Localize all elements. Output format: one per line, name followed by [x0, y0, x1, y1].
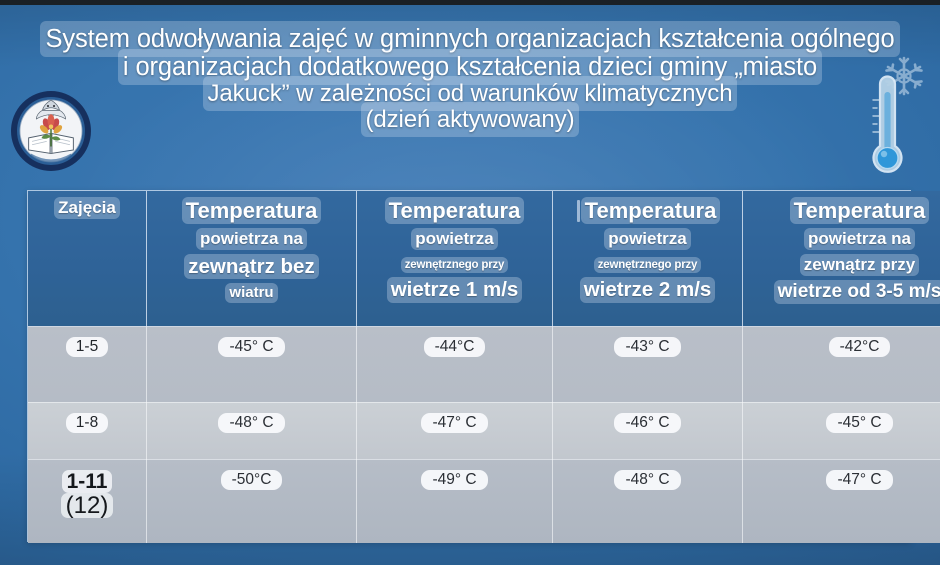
header-wind0-line-3: zewnątrz bez: [186, 256, 316, 278]
row-2-value-2: -46° C: [614, 413, 680, 433]
row-1-grade: 1-5: [66, 337, 108, 357]
row-3-value-3: -47° C: [826, 470, 892, 490]
row-2-wind-3-5-cell: -45° C: [743, 402, 940, 459]
row-3-wind-3-5-cell: -47° C: [743, 459, 940, 543]
row-2-grade: 1-8: [66, 413, 108, 433]
title-text-2: i organizacjach dodatkowego kształcenia …: [121, 52, 819, 82]
header-wind1-line-3: zewnętrznego przy: [403, 259, 506, 271]
title-text-3: Jakuck” w zależności od warunków klimaty…: [206, 79, 735, 108]
row-1-wind-3-5-cell: -42°C: [743, 326, 940, 402]
row-2-value-1: -47° C: [421, 413, 487, 433]
header-wind2-line-1: Temperatura: [583, 199, 719, 222]
title-text-1: System odwoływania zajęć w gminnych orga…: [43, 24, 896, 54]
column-header-wind-2: Temperatura powietrza zewnętrznego przy …: [553, 191, 743, 326]
row-1-wind-1-cell: -44°C: [357, 326, 553, 402]
row-2-wind-2-cell: -46° C: [553, 402, 743, 459]
row-3-grade-secondary: (12): [61, 493, 114, 518]
title-text-4: (dzień aktywowany): [364, 105, 577, 134]
row-1-grade-cell: 1-5: [28, 326, 147, 402]
header-wind35-line-1: Temperatura: [792, 199, 928, 222]
header-wind0-line-4: wiatru: [227, 285, 275, 301]
header-wind0-line-2: powietrza na: [198, 230, 305, 248]
row-3-value-1: -49° C: [421, 470, 487, 490]
header-wind0-line-1: Temperatura: [184, 199, 320, 222]
row-3-value-2: -48° C: [614, 470, 680, 490]
table-header-row: Zajęcia Temperatura powietrza na zewnątr…: [28, 191, 940, 326]
row-2-wind-1-cell: -47° C: [357, 402, 553, 459]
row-3-value-0: -50°C: [221, 470, 283, 490]
header-wind2-line-2: powietrza: [606, 230, 688, 248]
row-3-wind-2-cell: -48° C: [553, 459, 743, 543]
row-1-value-1: -44°C: [424, 337, 486, 357]
top-letterbox-bar: [0, 0, 940, 5]
header-wind1-line-1: Temperatura: [387, 199, 523, 222]
header-wind35-line-3: zewnątrz przy: [802, 256, 917, 274]
row-3-wind-0-cell: -50°C: [147, 459, 357, 543]
row-3-grade: 1-11: [62, 470, 113, 494]
column-header-wind-1: Temperatura powietrza zewnętrznego przy …: [357, 191, 553, 326]
row-2-value-3: -45° C: [826, 413, 892, 433]
header-zajecia-line-1: Zajęcia: [56, 199, 118, 217]
title-line-2: i organizacjach dodatkowego kształcenia …: [0, 54, 940, 80]
row-3-wind-1-cell: -49° C: [357, 459, 553, 543]
title-line-1: System odwoływania zajęć w gminnych orga…: [0, 26, 940, 52]
row-3-grade-cell: 1-11 (12): [28, 459, 147, 543]
temperature-table: Zajęcia Temperatura powietrza na zewnątr…: [27, 190, 911, 542]
table-row: 1-11 (12) -50°C -49° C -48° C -47° C: [28, 459, 940, 543]
row-1-value-3: -42°C: [829, 337, 891, 357]
row-1-wind-0-cell: -45° C: [147, 326, 357, 402]
row-2-value-0: -48° C: [218, 413, 284, 433]
column-header-wind-0: Temperatura powietrza na zewnątrz bez wi…: [147, 191, 357, 326]
header-wind2-line-3: zewnętrznego przy: [596, 259, 699, 271]
header-wind35-line-4: wietrze od 3-5 m/s: [776, 282, 940, 302]
page-title: System odwoływania zajęć w gminnych orga…: [0, 26, 940, 135]
row-2-grade-cell: 1-8: [28, 402, 147, 459]
title-line-3: Jakuck” w zależności od warunków klimaty…: [0, 82, 940, 106]
table-row: 1-5 -45° C -44°C -43° C -42°C: [28, 326, 940, 402]
title-line-4: (dzień aktywowany): [0, 108, 940, 132]
city-emblem-logo: [8, 88, 94, 174]
header-wind2-line-4: wietrze 2 m/s: [582, 279, 714, 301]
column-header-zajecia: Zajęcia: [28, 191, 147, 326]
row-1-value-0: -45° C: [218, 337, 284, 357]
column-header-wind-3-5: Temperatura powietrza na zewnątrz przy w…: [743, 191, 940, 326]
row-2-wind-0-cell: -48° C: [147, 402, 357, 459]
slide-screen: System odwoływania zajęć w gminnych orga…: [0, 0, 940, 565]
header-wind1-line-2: powietrza: [413, 230, 495, 248]
header-wind1-line-4: wietrze 1 m/s: [389, 279, 521, 301]
row-1-value-2: -43° C: [614, 337, 680, 357]
table-row: 1-8 -48° C -47° C -46° C -45° C: [28, 402, 940, 459]
row-1-wind-2-cell: -43° C: [553, 326, 743, 402]
header-wind35-line-2: powietrza na: [806, 230, 913, 248]
header-stray-bar-artifact: [577, 200, 580, 222]
